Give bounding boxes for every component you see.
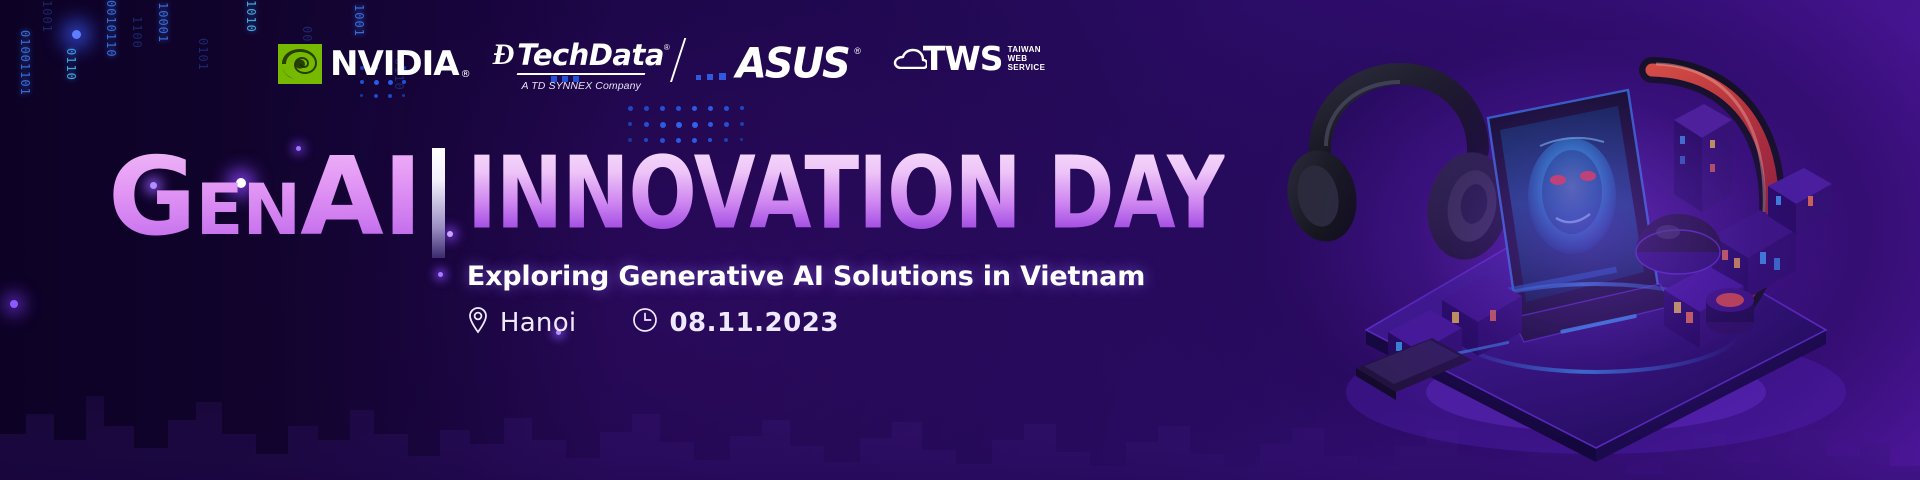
tws-wordmark: TWS bbox=[923, 42, 1003, 75]
map-pin-icon bbox=[467, 306, 489, 339]
asus-wordmark: ASUS bbox=[736, 43, 849, 85]
event-date-label: 08.11.2023 bbox=[669, 310, 838, 336]
glow-dot bbox=[10, 300, 18, 308]
nvidia-registered-mark: ® bbox=[461, 70, 470, 80]
logo-tech-data[interactable]: Đ TechData ® A TD SYNNEX Company bbox=[489, 40, 680, 92]
isometric-ai-device-scene bbox=[1260, 0, 1920, 480]
event-meta-row: Hanoi 08.11.2023 bbox=[467, 306, 1240, 339]
tech-data-underline-rule bbox=[517, 73, 646, 75]
event-location: Hanoi bbox=[467, 306, 577, 339]
tech-data-tagline: A TD SYNNEX Company bbox=[522, 80, 641, 92]
tws-tagline: TAIWAN WEB SERVICE bbox=[1008, 45, 1046, 72]
partner-logo-row: NVIDIA ® Đ TechData ® A TD SYNNEX Compan… bbox=[278, 36, 1045, 92]
nvidia-eye-icon bbox=[278, 44, 322, 84]
asus-registered-mark: ® bbox=[854, 46, 861, 56]
genai-tail-letters: AI bbox=[300, 135, 422, 260]
asus-dot-accent bbox=[696, 73, 726, 80]
headline-block: GENAI INNOVATION DAY Exploring Generativ… bbox=[108, 146, 1240, 339]
genai-brand-wordmark: GENAI bbox=[108, 146, 422, 262]
artwork-glow bbox=[1320, 40, 1860, 440]
tws-tagline-line-2: WEB bbox=[1008, 54, 1046, 63]
headline-divider-bar bbox=[432, 148, 445, 258]
logo-asus[interactable]: ASUS ® bbox=[736, 44, 849, 84]
nvidia-wordmark: NVIDIA ® bbox=[330, 47, 459, 81]
tech-data-monogram: Đ bbox=[493, 40, 515, 70]
tech-data-registered-mark: ® bbox=[664, 43, 670, 52]
genai-innovation-day-banner: 01001101 1001 0110 0010110 1100 10001 01… bbox=[0, 0, 1920, 480]
glow-dot bbox=[72, 30, 81, 39]
event-location-label: Hanoi bbox=[500, 310, 577, 336]
tech-data-dot-accent bbox=[551, 76, 579, 82]
genai-small-letters: EN bbox=[196, 169, 300, 251]
city-skyline-decoration bbox=[0, 330, 1920, 480]
headline-right-column: INNOVATION DAY Exploring Generative AI S… bbox=[467, 146, 1240, 339]
clock-icon bbox=[632, 307, 658, 338]
logo-tws[interactable]: TWS TAIWAN WEB SERVICE bbox=[893, 42, 1045, 75]
event-date: 08.11.2023 bbox=[632, 307, 838, 338]
tech-data-wordmark: TechData bbox=[517, 41, 664, 70]
genai-lead-letter: G bbox=[108, 135, 196, 260]
logo-nvidia[interactable]: NVIDIA ® bbox=[278, 42, 459, 86]
tech-data-slash-rule bbox=[670, 38, 686, 82]
cloud-icon bbox=[893, 43, 927, 69]
page-title: INNOVATION DAY bbox=[467, 146, 1224, 244]
headline-subtitle: Exploring Generative AI Solutions in Vie… bbox=[467, 261, 1240, 292]
tws-tagline-line-1: TAIWAN bbox=[1008, 45, 1046, 54]
nvidia-wordmark-text: NVIDIA bbox=[330, 44, 459, 84]
tech-data-main: Đ TechData ® bbox=[493, 40, 670, 70]
tws-tagline-line-3: SERVICE bbox=[1008, 63, 1046, 72]
